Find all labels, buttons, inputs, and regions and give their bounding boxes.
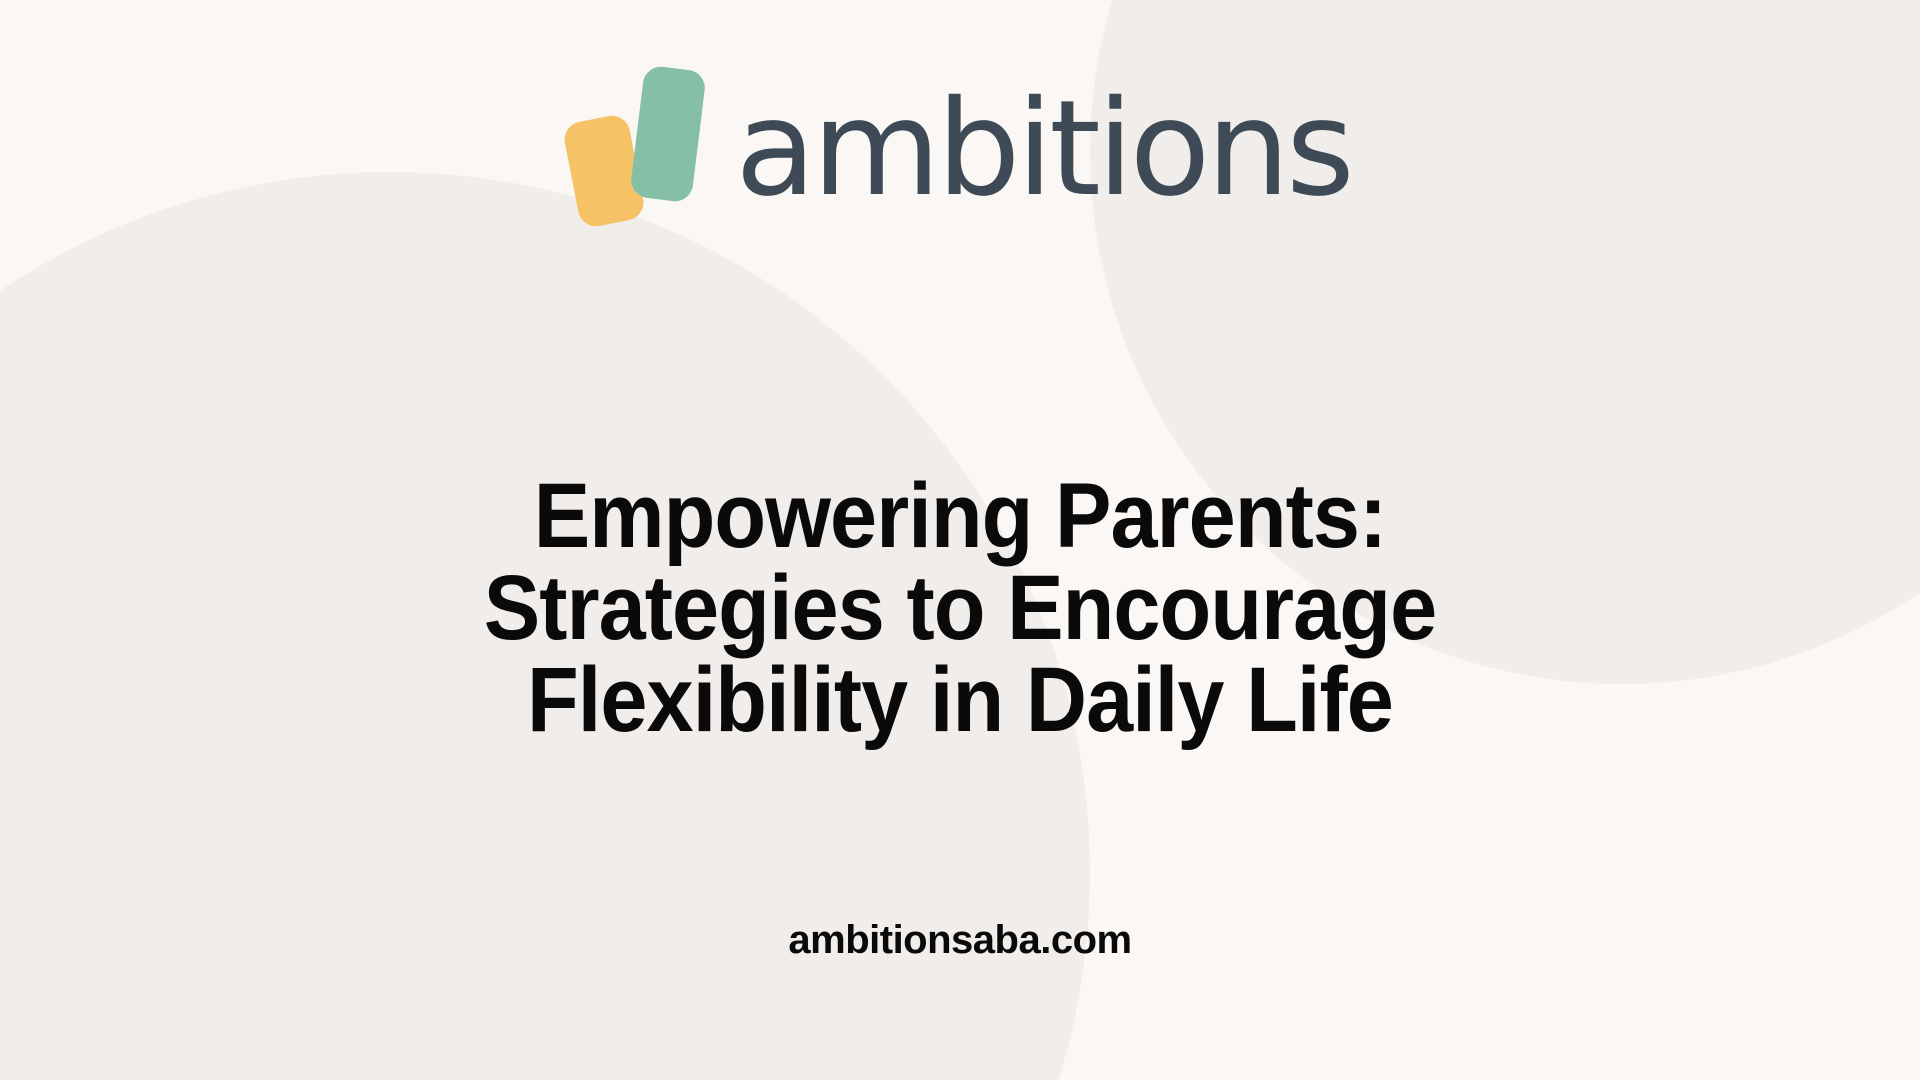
ambitions-logo-icon: [569, 62, 701, 224]
headline-line-2: Strategies to Encourage: [77, 562, 1843, 654]
brand-lockup: ambitions: [0, 58, 1920, 228]
page-title: Empowering Parents: Strategies to Encour…: [77, 470, 1843, 746]
headline-line-1: Empowering Parents:: [77, 470, 1843, 562]
brand-wordmark: ambitions: [735, 83, 1351, 215]
logo-bar-green-icon: [629, 65, 707, 204]
headline-line-3: Flexibility in Daily Life: [77, 654, 1843, 746]
footer-website-url: ambitionsaba.com: [0, 916, 1920, 964]
social-card-canvas: ambitions Empowering Parents: Strategies…: [0, 0, 1920, 1080]
